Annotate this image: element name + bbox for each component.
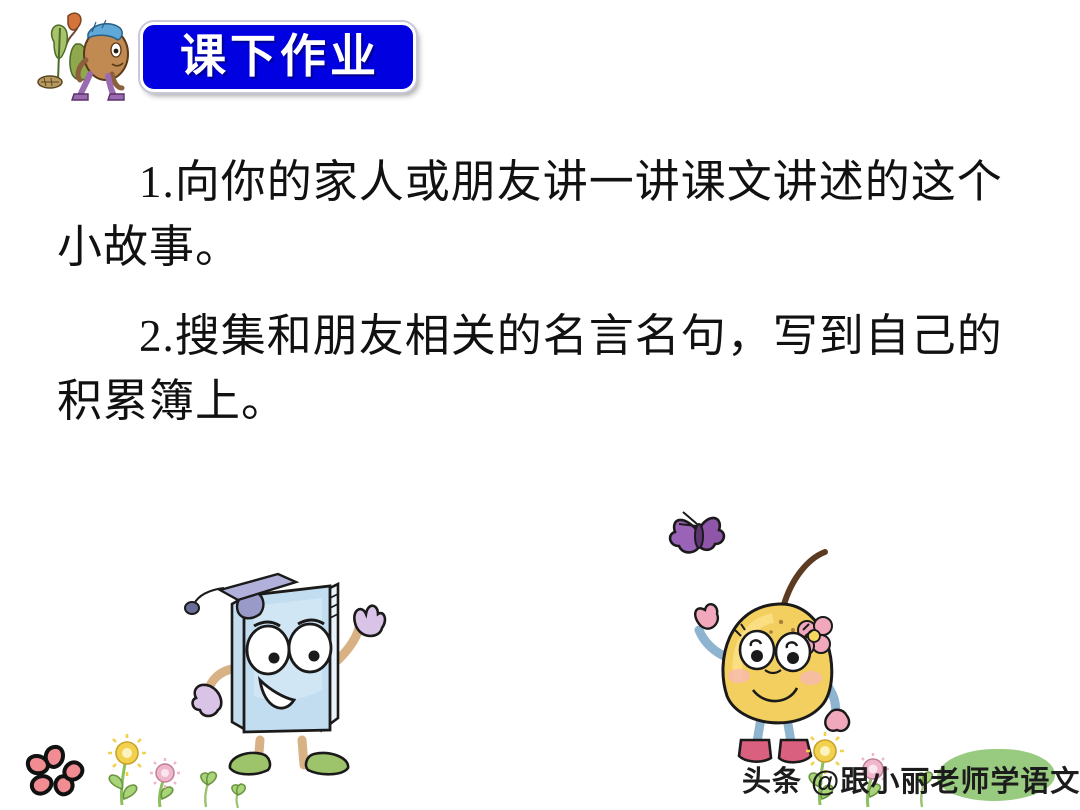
section-title-label: 课下作业 <box>176 34 380 80</box>
assignment-list: 1.向你的家人或朋友讲一讲课文讲述的这个小故事。 2.搜集和朋友相关的名言名句，… <box>57 150 1017 434</box>
yellow-daisy-icon <box>108 734 146 805</box>
walking-egg-student-icon <box>24 8 132 104</box>
section-title-badge: 课下作业 <box>140 22 416 92</box>
pink-flower-icon <box>28 747 83 794</box>
assignment-item-1: 1.向你的家人或朋友讲一讲课文讲述的这个小故事。 <box>57 150 1017 280</box>
watermark: 头条 @跟小丽老师学语文 <box>742 757 1072 801</box>
pink-daisy-icon <box>150 758 180 807</box>
slide-header: 课下作业 <box>0 0 1080 120</box>
assignment-item-2: 2.搜集和朋友相关的名言名句，写到自己的积累簿上。 <box>57 304 1017 434</box>
sprout-icon-2 <box>232 784 245 808</box>
butterfly-icon <box>670 512 724 552</box>
flower-decor-left <box>14 735 284 810</box>
sprout-icon-1 <box>201 772 216 807</box>
watermark-label: 头条 @跟小丽老师学语文 <box>742 758 1080 800</box>
